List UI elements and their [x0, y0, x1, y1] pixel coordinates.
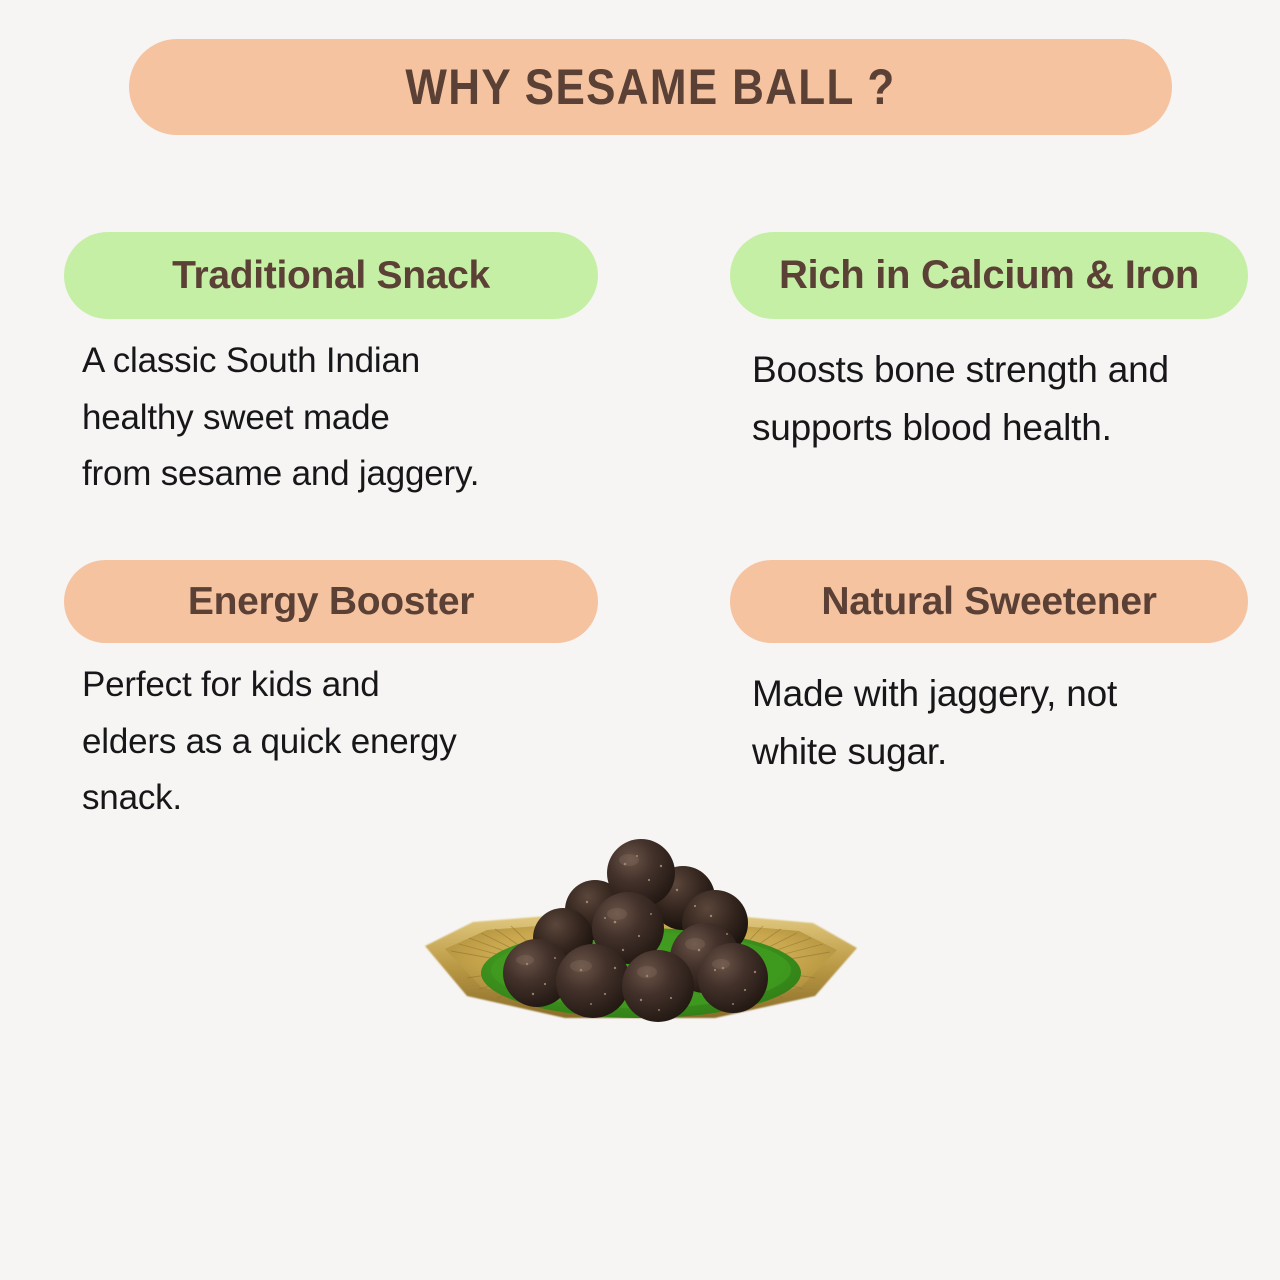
feature-card-natural-sweetener: Natural Sweetener Made with jaggery, not… — [730, 560, 1248, 782]
feature-body-traditional-snack: A classic South Indian healthy sweet mad… — [82, 333, 598, 503]
feature-body-natural-sweetener: Made with jaggery, not white sugar. — [752, 665, 1248, 782]
feature-label-calcium-iron: Rich in Calcium & Iron — [779, 253, 1199, 298]
feature-pill-natural-sweetener: Natural Sweetener — [730, 560, 1248, 643]
feature-pill-traditional-snack: Traditional Snack — [64, 232, 598, 319]
feature-body-energy-booster: Perfect for kids and elders as a quick e… — [82, 657, 598, 827]
title-banner: WHY SESAME BALL ? — [129, 39, 1172, 135]
feature-card-traditional-snack: Traditional Snack A classic South Indian… — [64, 232, 598, 503]
feature-body-calcium-iron: Boosts bone strength and supports blood … — [752, 341, 1248, 458]
feature-label-energy-booster: Energy Booster — [188, 580, 474, 624]
page-title: WHY SESAME BALL ? — [405, 58, 895, 116]
sesame-balls-photo — [415, 818, 865, 1073]
feature-label-natural-sweetener: Natural Sweetener — [821, 580, 1156, 624]
feature-card-calcium-iron: Rich in Calcium & Iron Boosts bone stren… — [730, 232, 1248, 458]
feature-pill-calcium-iron: Rich in Calcium & Iron — [730, 232, 1248, 319]
feature-label-traditional-snack: Traditional Snack — [172, 254, 490, 298]
sesame-balls — [503, 839, 768, 1022]
feature-card-energy-booster: Energy Booster Perfect for kids and elde… — [64, 560, 598, 827]
feature-pill-energy-booster: Energy Booster — [64, 560, 598, 643]
